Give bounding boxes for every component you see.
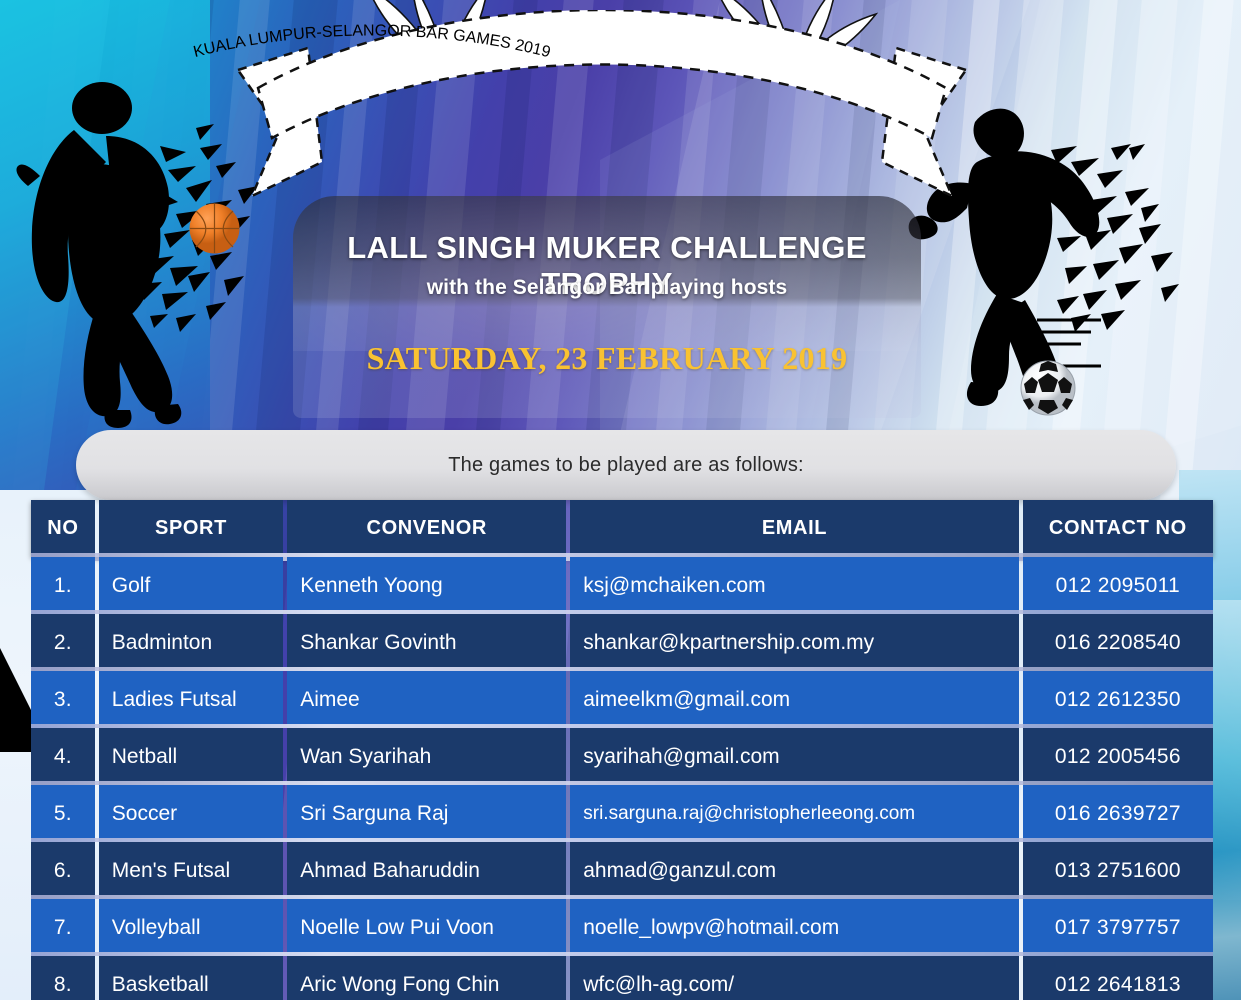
cell-convenor: Aric Wong Fong Chin — [287, 956, 566, 1000]
column-header-convenor: CONVENOR — [287, 500, 566, 557]
cell-sport: Netball — [99, 728, 283, 785]
cell-no: 1. — [31, 557, 95, 614]
cell-contact: 016 2208540 — [1023, 614, 1213, 671]
cell-contact: 012 2095011 — [1023, 557, 1213, 614]
cell-convenor: Wan Syarihah — [287, 728, 566, 785]
cell-no: 5. — [31, 785, 95, 842]
cell-convenor: Noelle Low Pui Voon — [287, 899, 566, 956]
cell-sport: Badminton — [99, 614, 283, 671]
cell-no: 4. — [31, 728, 95, 785]
basketball-icon — [189, 203, 240, 254]
table-row: 7.VolleyballNoelle Low Pui Voonnoelle_lo… — [31, 899, 1213, 956]
table-row: 8.BasketballAric Wong Fong Chinwfc@lh-ag… — [31, 956, 1213, 1000]
column-header-no: NO — [31, 500, 95, 557]
cell-sport: Ladies Futsal — [99, 671, 283, 728]
cell-no: 6. — [31, 842, 95, 899]
cell-convenor: Kenneth Yoong — [287, 557, 566, 614]
cell-sport: Volleyball — [99, 899, 283, 956]
cell-sport: Soccer — [99, 785, 283, 842]
poster: KUALA LUMPUR-SELANGOR BAR GAMES 2019 LAL… — [0, 0, 1241, 1000]
cell-no: 2. — [31, 614, 95, 671]
cell-contact: 017 3797757 — [1023, 899, 1213, 956]
cell-contact: 012 2641813 — [1023, 956, 1213, 1000]
intro-pill: The games to be played are as follows: — [76, 430, 1176, 500]
cell-sport: Basketball — [99, 956, 283, 1000]
cell-convenor: Sri Sarguna Raj — [287, 785, 566, 842]
intro-text: The games to be played are as follows: — [448, 454, 804, 477]
ribbon-banner — [232, 10, 972, 205]
cell-no: 8. — [31, 956, 95, 1000]
cell-convenor: Ahmad Baharuddin — [287, 842, 566, 899]
cell-no: 3. — [31, 671, 95, 728]
games-table: NO SPORT CONVENOR EMAIL CONTACT NO 1.Gol… — [31, 500, 1213, 1000]
event-date: SATURDAY, 23 FEBRUARY 2019 — [293, 340, 921, 377]
column-header-sport: SPORT — [99, 500, 283, 557]
cell-email[interactable]: wfc@lh-ag.com/ — [570, 956, 1018, 1000]
cell-contact: 016 2639727 — [1023, 785, 1213, 842]
cell-contact: 012 2612350 — [1023, 671, 1213, 728]
cell-email[interactable]: ahmad@ganzul.com — [570, 842, 1018, 899]
table-row: 4.NetballWan Syarihahsyarihah@gmail.com0… — [31, 728, 1213, 785]
cell-convenor: Shankar Govinth — [287, 614, 566, 671]
cell-email[interactable]: ksj@mchaiken.com — [570, 557, 1018, 614]
cell-email[interactable]: aimeelkm@gmail.com — [570, 671, 1018, 728]
cell-convenor: Aimee — [287, 671, 566, 728]
cell-contact: 012 2005456 — [1023, 728, 1213, 785]
table-row: 2.BadmintonShankar Govinthshankar@kpartn… — [31, 614, 1213, 671]
table-row: 3.Ladies FutsalAimeeaimeelkm@gmail.com01… — [31, 671, 1213, 728]
cell-email[interactable]: sri.sarguna.raj@christopherleeong.com — [570, 785, 1018, 842]
column-header-contact: CONTACT NO — [1023, 500, 1213, 557]
soccer-ball-icon — [1020, 360, 1076, 416]
cell-sport: Men's Futsal — [99, 842, 283, 899]
cell-email[interactable]: noelle_lowpv@hotmail.com — [570, 899, 1018, 956]
table-row: 5.SoccerSri Sarguna Rajsri.sarguna.raj@c… — [31, 785, 1213, 842]
event-title-card: LALL SINGH MUKER CHALLENGE TROPHY with t… — [293, 196, 921, 418]
cell-sport: Golf — [99, 557, 283, 614]
table-body: 1.GolfKenneth Yoongksj@mchaiken.com012 2… — [31, 557, 1213, 1000]
column-header-email: EMAIL — [570, 500, 1018, 557]
table-row: 1.GolfKenneth Yoongksj@mchaiken.com012 2… — [31, 557, 1213, 614]
table-row: 6.Men's FutsalAhmad Baharuddinahmad@ganz… — [31, 842, 1213, 899]
cell-email[interactable]: shankar@kpartnership.com.my — [570, 614, 1018, 671]
cell-contact: 013 2751600 — [1023, 842, 1213, 899]
event-subtitle: with the Selangor Bar playing hosts — [293, 276, 921, 300]
table-header-row: NO SPORT CONVENOR EMAIL CONTACT NO — [31, 500, 1213, 557]
cell-email[interactable]: syarihah@gmail.com — [570, 728, 1018, 785]
cell-no: 7. — [31, 899, 95, 956]
